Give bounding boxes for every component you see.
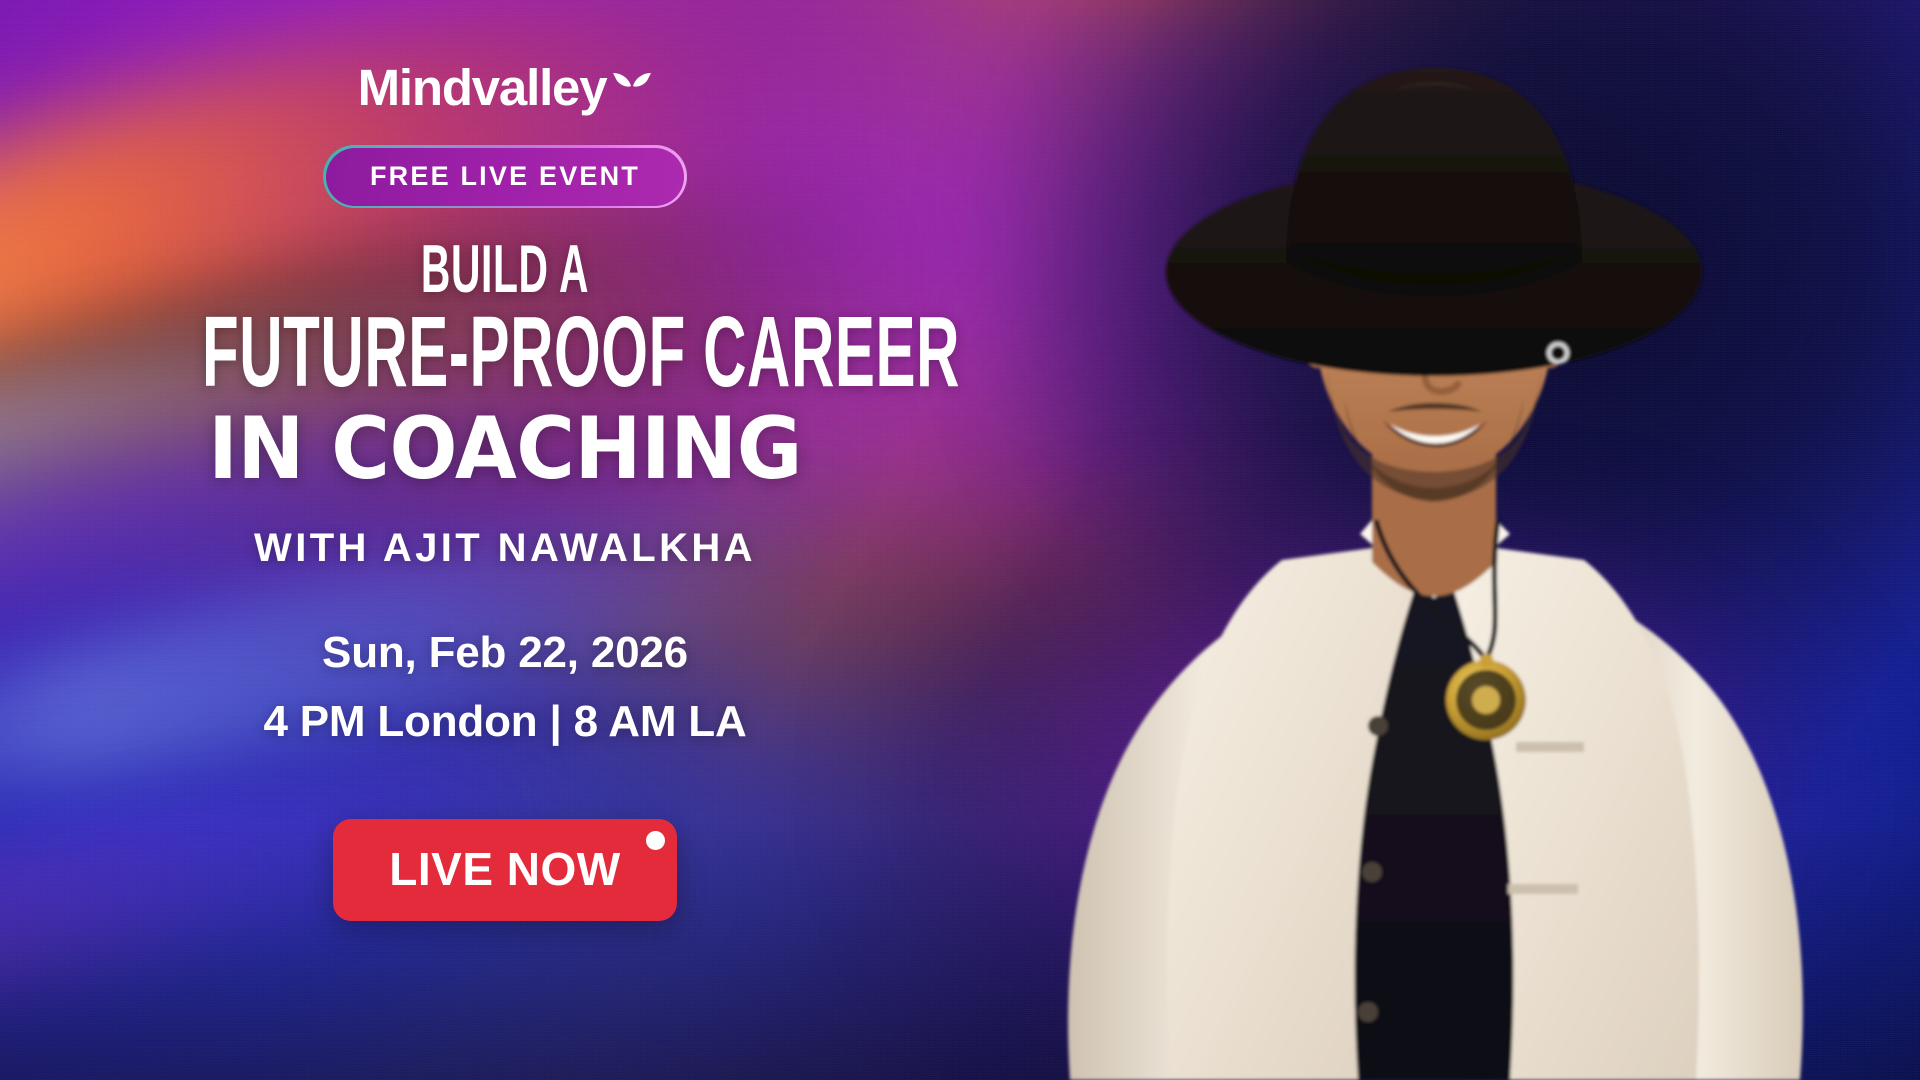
headline-line-2: FUTURE-PROOF CAREER <box>202 304 808 400</box>
presenter-name: WITH AJIT NAWALKHA <box>254 526 756 571</box>
live-now-label: LIVE NOW <box>389 842 620 896</box>
live-now-button[interactable]: LIVE NOW <box>333 819 676 921</box>
live-indicator-dot-icon <box>646 831 665 850</box>
free-live-event-badge[interactable]: FREE LIVE EVENT <box>323 145 686 208</box>
event-date: Sun, Feb 22, 2026 <box>263 625 746 680</box>
brand-wordmark: Mindvalley <box>358 62 607 113</box>
event-schedule: Sun, Feb 22, 2026 4 PM London | 8 AM LA <box>263 625 746 749</box>
headline-line-1: BUILD A <box>202 238 808 302</box>
page-title: BUILD A FUTURE-PROOF CAREER IN COACHING <box>0 238 1010 492</box>
promo-banner: Mindvalley FREE LIVE EVENT BUILD A FUTUR… <box>0 0 1920 1080</box>
badge-label: FREE LIVE EVENT <box>370 161 640 192</box>
cta-container: LIVE NOW <box>333 819 676 921</box>
event-time: 4 PM London | 8 AM LA <box>263 694 746 749</box>
promo-content-column: Mindvalley FREE LIVE EVENT BUILD A FUTUR… <box>0 0 1010 1080</box>
brand-logo[interactable]: Mindvalley <box>358 62 653 113</box>
mindvalley-leaf-icon <box>612 72 652 105</box>
headline-line-3: IN COACHING <box>35 406 974 492</box>
